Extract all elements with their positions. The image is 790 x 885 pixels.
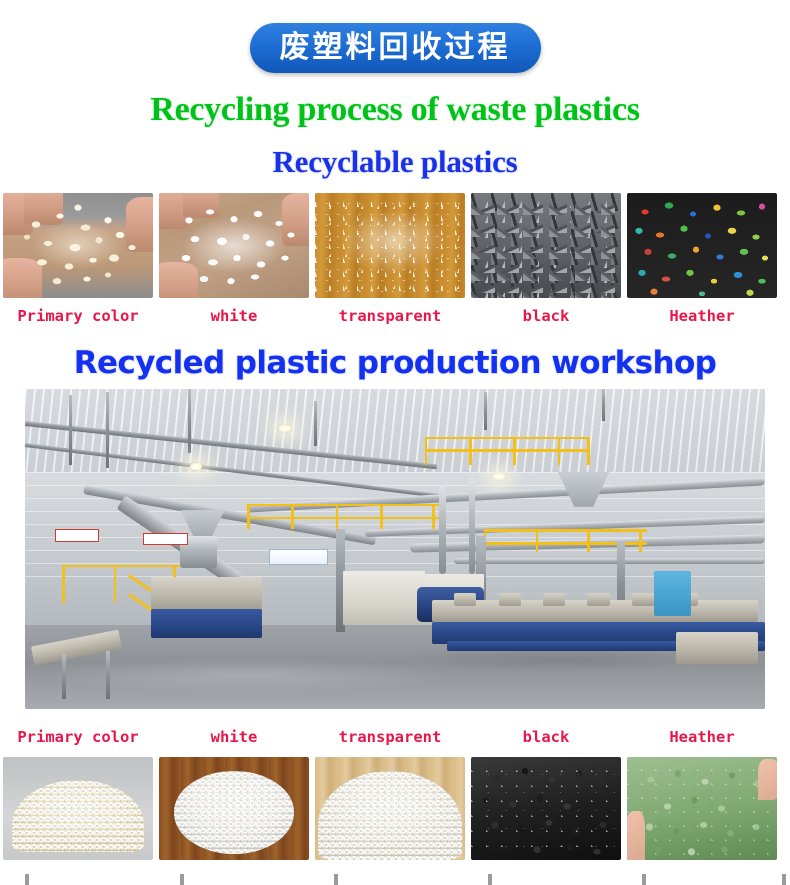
pellet-photo-black: [471, 757, 621, 860]
header-badge-row: 废塑料回收过程: [0, 0, 790, 92]
bottom-tick-marks: [0, 871, 790, 885]
pellet-photo-primary-color: [3, 757, 153, 860]
pellet-label-transparent: transparent: [315, 730, 465, 746]
tick-mark: [642, 874, 646, 885]
flake-photo-transparent: [315, 193, 465, 298]
gallery-label-white: white: [159, 309, 309, 325]
ceiling-lamp: [277, 424, 293, 433]
page-subtitle-recyclable-plastics: Recyclable plastics: [0, 146, 790, 177]
page-title-english: Recycling process of waste plastics: [0, 93, 790, 127]
flake-photo-heather: [627, 193, 777, 298]
gallery-item-white: white: [159, 193, 309, 325]
pellet-photo-white: [159, 757, 309, 860]
control-cabinet: [343, 571, 424, 625]
extruder-heater: [543, 593, 565, 606]
pellet-photo-transparent: [315, 757, 465, 860]
tick-mark: [488, 874, 492, 885]
tick-mark: [334, 874, 338, 885]
railing: [484, 529, 647, 532]
tick-mark: [782, 874, 786, 885]
tick-mark: [180, 874, 184, 885]
flake-photo-primary-color: [3, 193, 153, 298]
info-board: [269, 549, 328, 565]
safety-sign: [143, 533, 187, 546]
pellet-label-black: black: [471, 730, 621, 746]
pellet-item-primary-color: Primary color: [3, 730, 153, 861]
mixer-tank: [151, 577, 262, 612]
railing: [247, 504, 439, 507]
railing: [247, 517, 439, 520]
mixer-base: [151, 609, 262, 638]
flake-photo-black: [471, 193, 621, 298]
workshop-heading: Recycled plastic production workshop: [74, 345, 717, 381]
thumb: [627, 811, 645, 860]
pellet-item-white: white: [159, 730, 309, 861]
pellet-label-white: white: [159, 730, 309, 746]
safety-sign: [55, 529, 99, 542]
metal-tray: [676, 632, 757, 664]
gallery-label-black: black: [471, 309, 621, 325]
extruder-heater: [632, 593, 654, 606]
flake-photo-white: [159, 193, 309, 298]
gallery-item-transparent: transparent: [315, 193, 465, 325]
gallery-item-primary-color: Primary color: [3, 193, 153, 325]
extruder-heater: [499, 593, 521, 606]
ceiling-lamp: [188, 462, 204, 471]
railing: [425, 437, 588, 440]
ceiling-lamp: [491, 472, 507, 481]
thumb: [758, 759, 778, 800]
pellet-label-primary-color: Primary color: [3, 730, 153, 746]
pellet-item-transparent: transparent: [315, 730, 465, 861]
gallery-item-heather: Heather: [627, 193, 777, 325]
workshop-heading-wrap: Recycled plastic production workshop: [0, 348, 790, 379]
pellet-label-heather: Heather: [627, 730, 777, 746]
gallery-label-transparent: transparent: [315, 309, 465, 325]
recycled-pellets-gallery: Primary color white transparent black: [0, 730, 790, 861]
recyclable-plastics-gallery: Primary color white transparent: [0, 193, 790, 325]
operator-panel: [654, 571, 691, 616]
pellet-photo-heather: [627, 757, 777, 860]
railing: [425, 449, 588, 452]
tick-mark: [25, 874, 29, 885]
extruder-heater: [454, 593, 476, 606]
chinese-title-text: 废塑料回收过程: [280, 33, 511, 63]
railing: [62, 565, 180, 568]
gallery-label-heather: Heather: [627, 309, 777, 325]
extruder-heater: [587, 593, 609, 606]
gallery-label-primary-color: Primary color: [3, 309, 153, 325]
gallery-item-black: black: [471, 193, 621, 325]
pellet-item-heather: Heather: [627, 730, 777, 861]
pellet-item-black: black: [471, 730, 621, 861]
workshop-photo: [25, 389, 765, 709]
chinese-title-badge: 废塑料回收过程: [250, 23, 541, 73]
